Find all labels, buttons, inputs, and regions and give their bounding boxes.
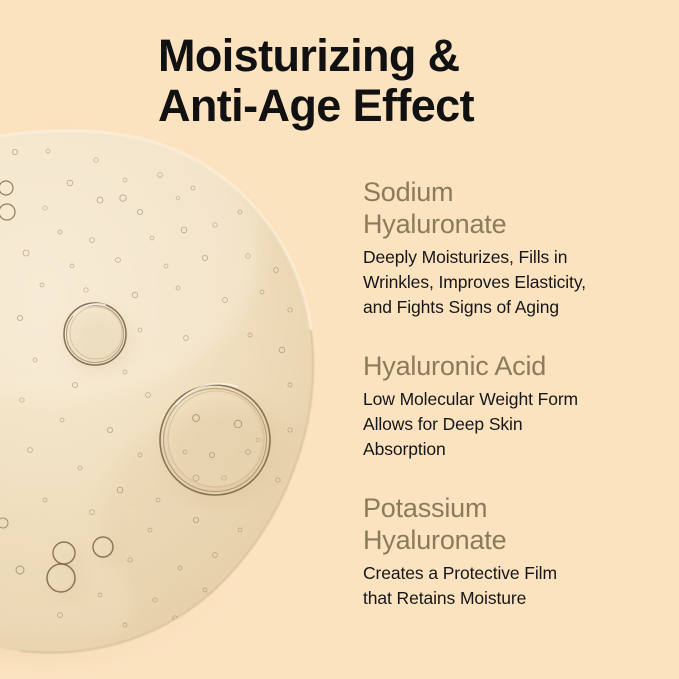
ingredient-name-hyaluronic-acid: Hyaluronic Acid bbox=[363, 350, 663, 382]
page-title-line-2: Anti-Age Effect bbox=[158, 81, 658, 131]
ingredient-item-potassium-hyaluronate: Potassium Hyaluronate Creates a Protecti… bbox=[363, 492, 663, 611]
ingredient-description-sodium-hyaluronate: Deeply Moisturizes, Fills in Wrinkles, I… bbox=[363, 245, 663, 320]
ingredient-list: Sodium Hyaluronate Deeply Moisturizes, F… bbox=[363, 176, 663, 611]
ingredient-item-hyaluronic-acid: Hyaluronic Acid Low Molecular Weight For… bbox=[363, 350, 663, 462]
page-title-line-1: Moisturizing & bbox=[158, 31, 658, 81]
ingredient-desc-line-1: Creates a Protective Film bbox=[363, 561, 663, 586]
page-title: Moisturizing & Anti-Age Effect bbox=[158, 31, 658, 131]
ingredient-name-sodium-hyaluronate: Sodium Hyaluronate bbox=[363, 176, 663, 240]
ingredient-desc-line-1: Low Molecular Weight Form bbox=[363, 387, 663, 412]
gel-bubbles bbox=[0, 149, 292, 627]
product-benefits-infographic: Moisturizing & Anti-Age Effect Sodium Hy… bbox=[0, 0, 679, 679]
bubble-cluster-lower-left bbox=[47, 537, 119, 598]
ingredient-name-potassium-hyaluronate: Potassium Hyaluronate bbox=[363, 492, 663, 556]
ingredient-name-line-2: Hyaluronate bbox=[363, 524, 663, 556]
ingredient-desc-line-3: and Fights Signs of Aging bbox=[363, 295, 663, 320]
bubble-cluster-left-edge bbox=[0, 181, 24, 574]
ingredient-item-sodium-hyaluronate: Sodium Hyaluronate Deeply Moisturizes, F… bbox=[363, 176, 663, 320]
bubble-ring-large-1 bbox=[64, 303, 130, 370]
ingredient-name-line-2: Hyaluronate bbox=[363, 208, 663, 240]
ingredient-desc-line-2: Wrinkles, Improves Elasticity, bbox=[363, 270, 663, 295]
ingredient-name-line-1: Hyaluronic Acid bbox=[363, 350, 663, 382]
ingredient-name-line-1: Sodium bbox=[363, 176, 663, 208]
ingredient-desc-line-2: that Retains Moisture bbox=[363, 586, 663, 611]
ingredient-desc-line-2: Allows for Deep Skin bbox=[363, 412, 663, 437]
ingredient-desc-line-3: Absorption bbox=[363, 437, 663, 462]
gel-blob-shadow bbox=[0, 139, 321, 661]
bubble-ring-large-2 bbox=[160, 384, 275, 502]
gel-blob-body bbox=[0, 100, 360, 679]
ingredient-description-potassium-hyaluronate: Creates a Protective Film that Retains M… bbox=[363, 561, 663, 611]
ingredient-description-hyaluronic-acid: Low Molecular Weight Form Allows for Dee… bbox=[363, 387, 663, 462]
ingredient-desc-line-1: Deeply Moisturizes, Fills in bbox=[363, 245, 663, 270]
micro-bubbles bbox=[12, 149, 292, 627]
ingredient-name-line-1: Potassium bbox=[363, 492, 663, 524]
